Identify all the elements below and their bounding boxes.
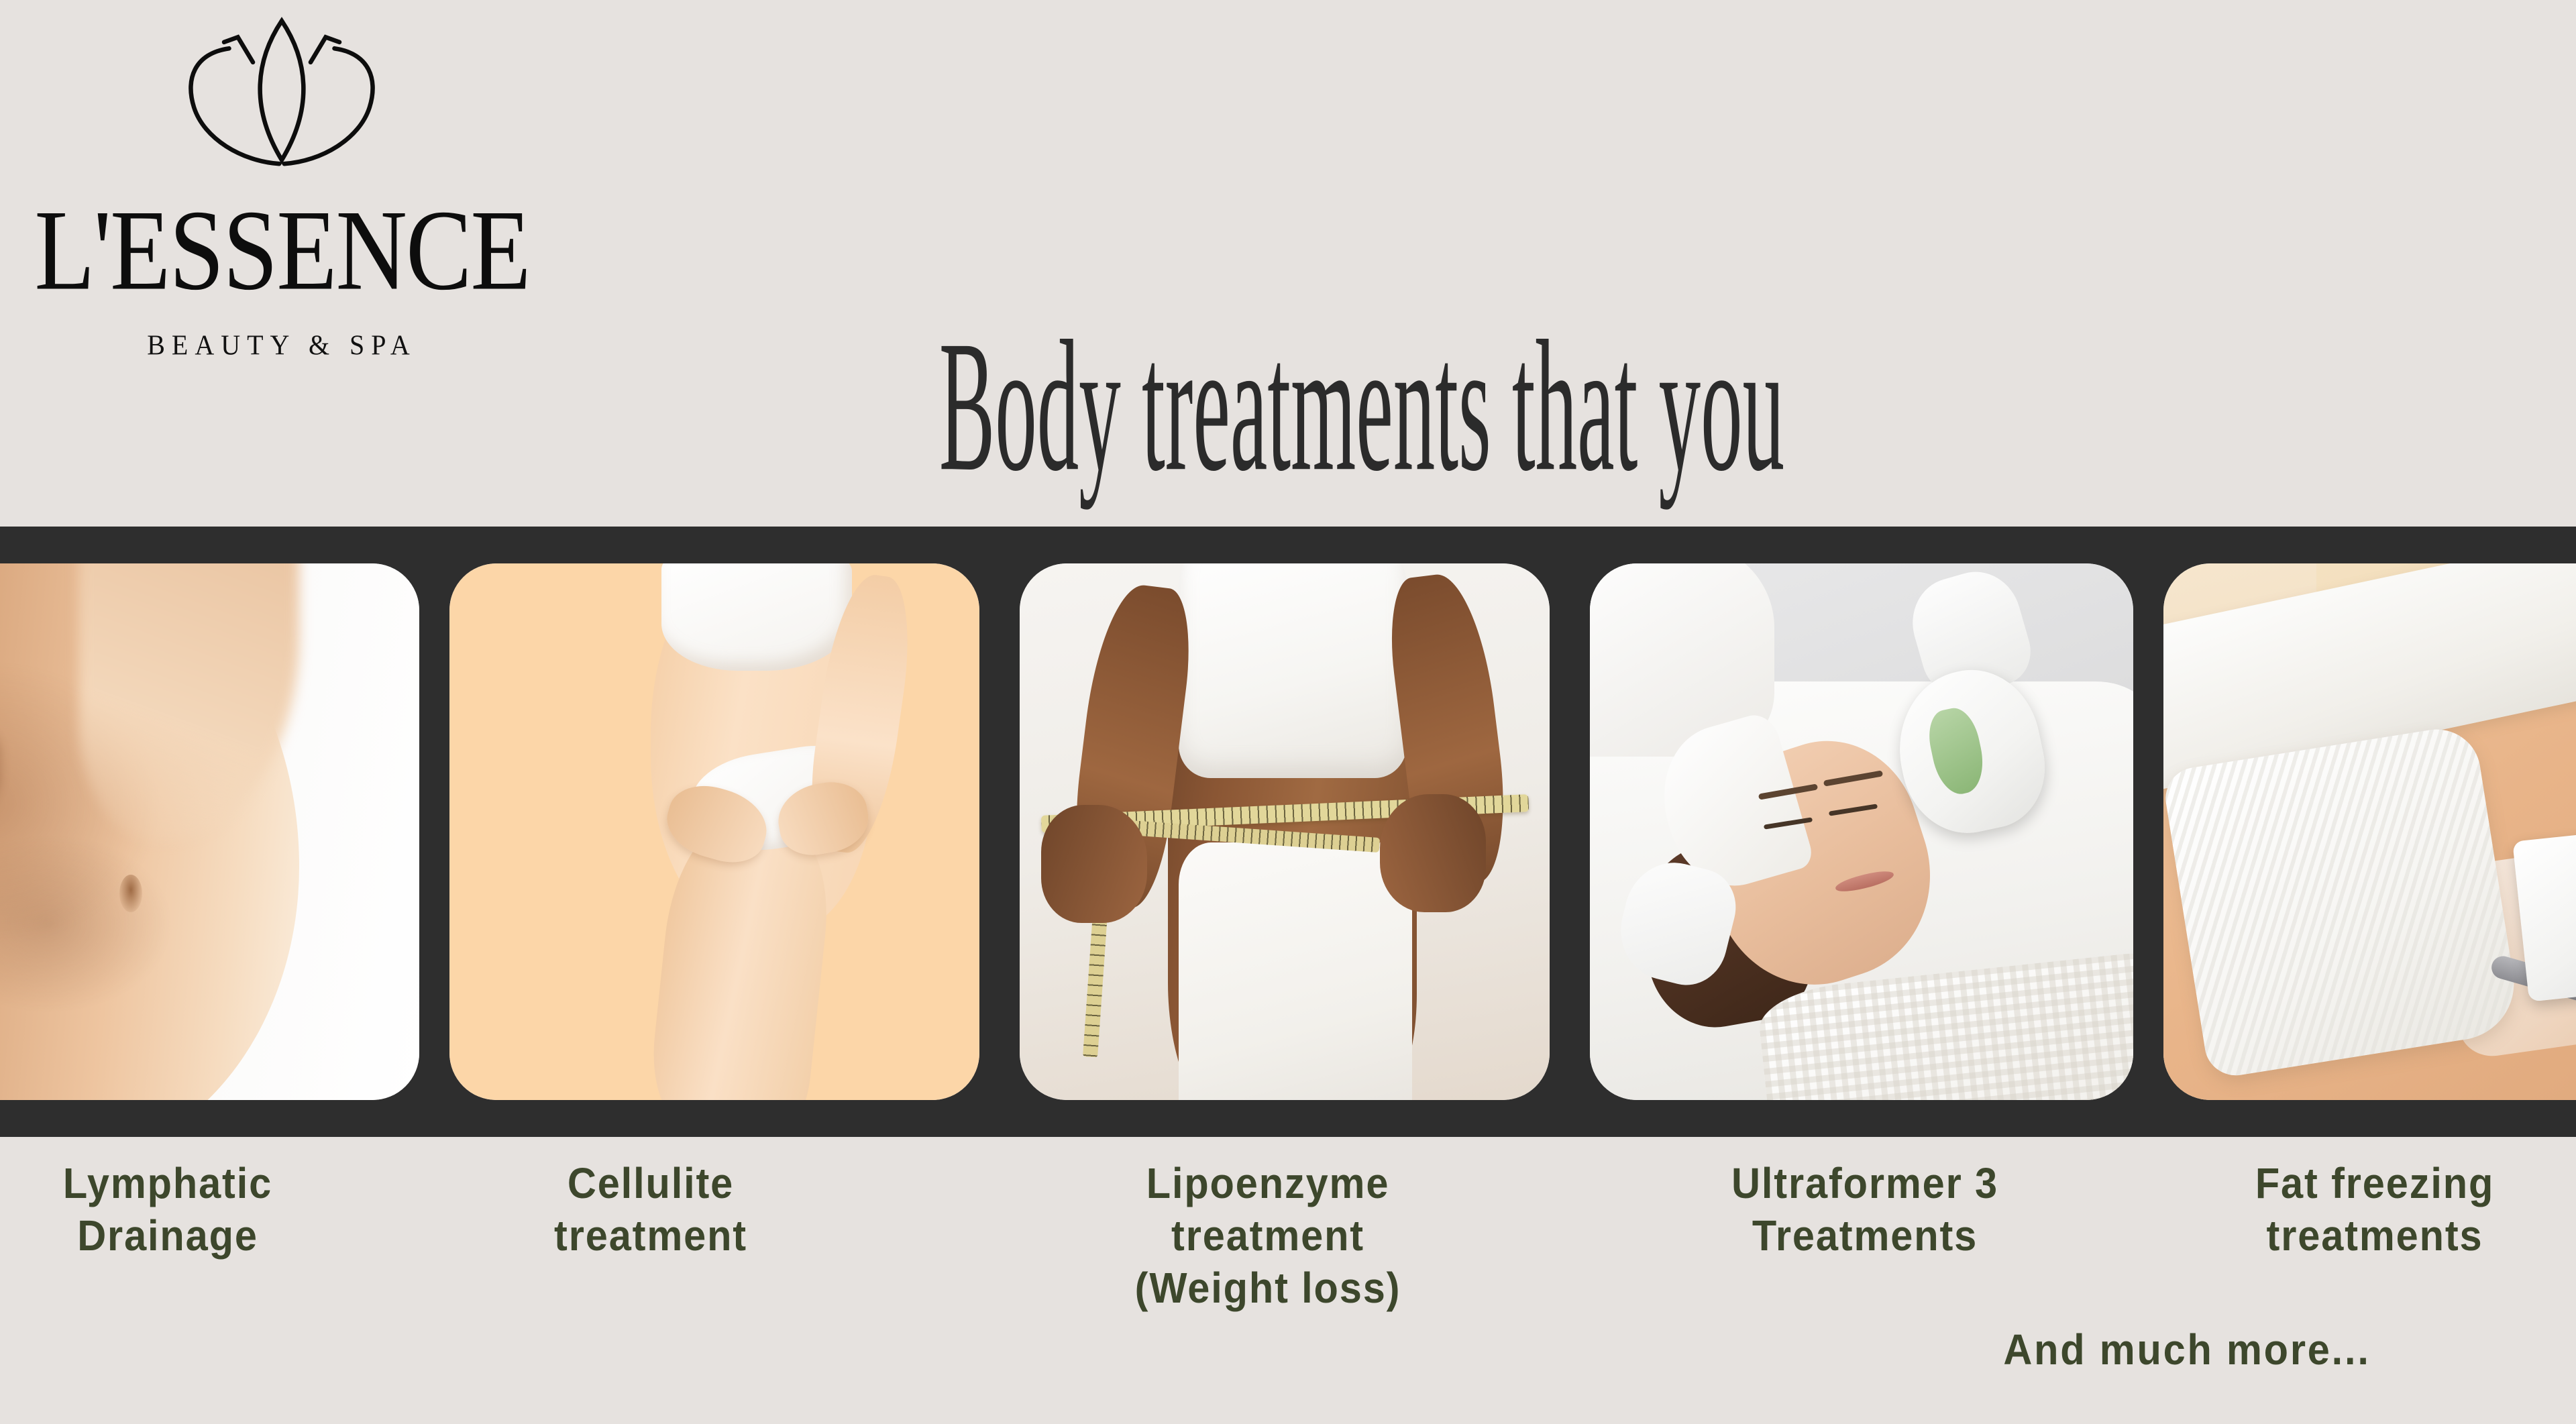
service-image-ultraformer-treatments	[1590, 563, 2133, 1100]
lotus-flower-icon	[107, 12, 456, 175]
service-image-strip	[0, 527, 2576, 1137]
brand-tagline: BEAUTY & SPA	[147, 329, 417, 362]
service-caption-list: Lymphatic Drainage Cellulite treatment L…	[0, 1137, 2576, 1424]
brand-name: L'ESSENCE	[34, 193, 529, 308]
service-card-lymphatic-drainage[interactable]	[0, 563, 419, 1100]
service-caption-ultraformer-treatments: Ultraformer 3 Treatments	[1628, 1157, 2102, 1262]
banner-header: L'ESSENCE BEAUTY & SPA Body treatments t…	[0, 0, 2576, 527]
service-card-fat-freezing-treatments[interactable]	[2163, 563, 2576, 1100]
service-image-cellulite-treatment	[449, 563, 979, 1100]
service-card-list	[0, 563, 2576, 1100]
service-image-lipoenzyme-treatment	[1020, 563, 1550, 1100]
service-caption-lymphatic-drainage: Lymphatic Drainage	[5, 1157, 330, 1262]
brand-logo: L'ESSENCE BEAUTY & SPA	[13, 12, 550, 361]
service-card-ultraformer-treatments[interactable]	[1590, 563, 2133, 1100]
service-caption-lipoenzyme-treatment: Lipoenzyme treatment (Weight loss)	[1050, 1157, 1487, 1314]
service-image-fat-freezing-treatments	[2163, 563, 2576, 1100]
and-much-more-text: And much more...	[1837, 1325, 2536, 1374]
promo-banner: L'ESSENCE BEAUTY & SPA Body treatments t…	[0, 0, 2576, 1424]
service-card-cellulite-treatment[interactable]	[449, 563, 979, 1100]
service-caption-fat-freezing-treatments: Fat freezing treatments	[2182, 1157, 2569, 1262]
service-image-lymphatic-drainage	[0, 563, 419, 1100]
service-caption-cellulite-treatment: Cellulite treatment	[476, 1157, 826, 1262]
service-card-lipoenzyme-treatment[interactable]	[1020, 563, 1550, 1100]
